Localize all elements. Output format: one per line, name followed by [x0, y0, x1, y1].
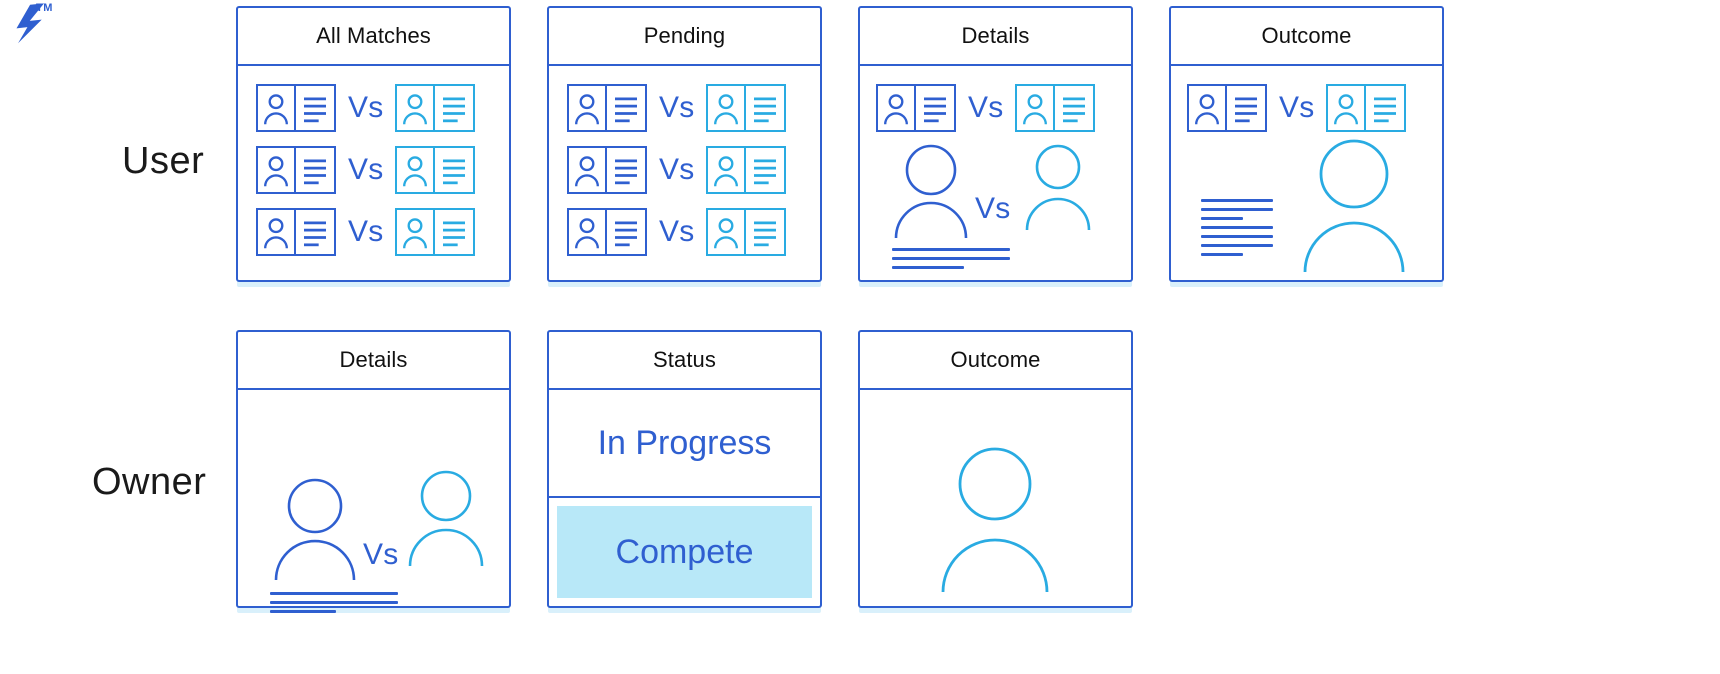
id-card-icon	[1015, 84, 1095, 132]
text-line	[270, 601, 398, 604]
card-title: Status	[653, 347, 716, 373]
text-line	[1201, 244, 1273, 247]
id-card-icon	[1187, 84, 1267, 132]
id-card-icon	[1326, 84, 1406, 132]
vs-label: Vs	[363, 540, 398, 570]
status-value-section: In Progress	[549, 390, 820, 498]
vs-label: Vs	[1279, 93, 1314, 123]
card-header: Status	[549, 332, 820, 390]
id-card-icon	[256, 146, 336, 194]
person-avatar-icon	[406, 468, 486, 570]
text-line	[270, 592, 398, 595]
card-title: Outcome	[1262, 23, 1352, 49]
id-card-icon	[256, 84, 336, 132]
text-line	[1201, 208, 1273, 211]
match-row[interactable]: Vs	[1187, 84, 1406, 132]
id-card-icon	[567, 146, 647, 194]
text-lines-block	[892, 248, 1012, 275]
person-avatar-icon	[935, 442, 1055, 594]
card-body: Vs Vs Vs	[238, 66, 509, 280]
match-row[interactable]: Vs	[567, 84, 786, 132]
row-label-user: User	[122, 140, 204, 183]
compete-button-label: Compete	[616, 533, 754, 572]
text-line	[892, 248, 1010, 251]
text-line	[1201, 235, 1273, 238]
match-row[interactable]: Vs	[256, 84, 475, 132]
person-avatar-icon	[892, 142, 970, 242]
card-header: Details	[238, 332, 509, 390]
card-details-owner[interactable]: Details Vs	[236, 330, 511, 608]
card-body	[860, 390, 1131, 606]
person-avatar-icon	[1299, 134, 1409, 276]
card-title: Details	[962, 23, 1030, 49]
id-card-icon	[567, 84, 647, 132]
text-line	[892, 266, 964, 269]
card-title: Details	[340, 347, 408, 373]
vs-label: Vs	[975, 194, 1010, 224]
vs-label: Vs	[348, 217, 383, 247]
card-body: In Progress Compete	[549, 390, 820, 606]
card-title: Outcome	[951, 347, 1041, 373]
card-pending[interactable]: Pending Vs Vs	[547, 6, 822, 282]
id-card-icon	[706, 146, 786, 194]
text-line	[270, 610, 336, 613]
card-header: Outcome	[1171, 8, 1442, 66]
card-header: All Matches	[238, 8, 509, 66]
text-line	[1201, 217, 1243, 220]
card-body: Vs Vs	[860, 66, 1131, 280]
text-line	[1201, 226, 1273, 229]
card-title: All Matches	[316, 23, 431, 49]
text-line	[1201, 253, 1243, 256]
text-line	[892, 257, 1010, 260]
id-card-icon	[256, 208, 336, 256]
match-row[interactable]: Vs	[567, 146, 786, 194]
card-title: Pending	[644, 23, 725, 49]
compete-section: Compete	[549, 498, 820, 606]
card-status[interactable]: Status In Progress Compete	[547, 330, 822, 608]
vs-label: Vs	[968, 93, 1003, 123]
compete-button[interactable]: Compete	[557, 506, 812, 598]
card-body: Vs	[238, 390, 509, 606]
text-line	[1201, 199, 1273, 202]
text-lines-block	[270, 592, 400, 619]
vs-label: Vs	[659, 155, 694, 185]
card-header: Pending	[549, 8, 820, 66]
vs-label: Vs	[659, 217, 694, 247]
card-header: Outcome	[860, 332, 1131, 390]
card-body: Vs Vs Vs	[549, 66, 820, 280]
id-card-icon	[876, 84, 956, 132]
id-card-icon	[706, 84, 786, 132]
card-header: Details	[860, 8, 1131, 66]
id-card-icon	[395, 146, 475, 194]
row-label-owner: Owner	[92, 461, 206, 504]
person-avatar-icon	[271, 476, 359, 584]
match-row[interactable]: Vs	[256, 146, 475, 194]
match-row[interactable]: Vs	[567, 208, 786, 256]
card-outcome-user[interactable]: Outcome Vs	[1169, 6, 1444, 282]
card-body: Vs	[1171, 66, 1442, 280]
match-row[interactable]: Vs	[256, 208, 475, 256]
vs-label: Vs	[348, 155, 383, 185]
match-row[interactable]: Vs	[876, 84, 1095, 132]
id-card-icon	[395, 208, 475, 256]
vs-label: Vs	[659, 93, 694, 123]
trademark-label: TM	[36, 2, 53, 14]
id-card-icon	[706, 208, 786, 256]
id-card-icon	[567, 208, 647, 256]
person-avatar-icon	[1023, 142, 1093, 234]
brand-logo: TM	[6, 0, 76, 46]
id-card-icon	[395, 84, 475, 132]
card-outcome-owner[interactable]: Outcome	[858, 330, 1133, 608]
card-details-user[interactable]: Details Vs Vs	[858, 6, 1133, 282]
vs-label: Vs	[348, 93, 383, 123]
text-lines-block	[1201, 199, 1283, 262]
status-badge: In Progress	[598, 424, 772, 463]
card-all-matches[interactable]: All Matches Vs Vs	[236, 6, 511, 282]
